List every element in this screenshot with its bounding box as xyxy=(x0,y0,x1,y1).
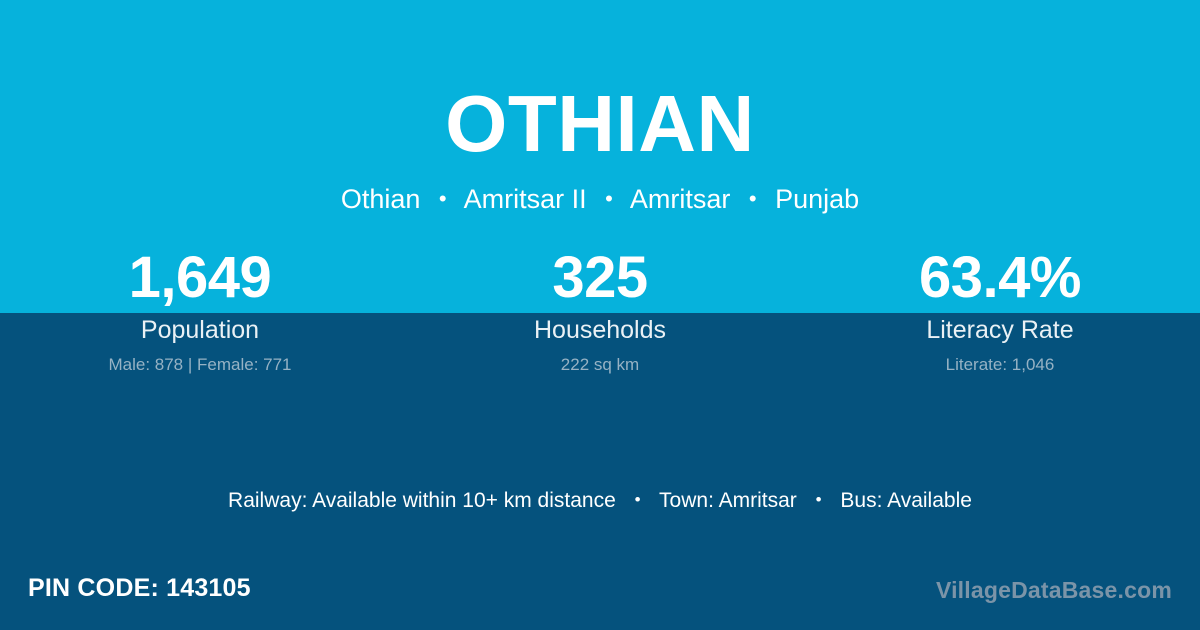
breadcrumb-item-district: Amritsar xyxy=(630,184,731,214)
breadcrumb-item-state: Punjab xyxy=(775,184,859,214)
facility-separator: • xyxy=(622,490,654,509)
stat-label: Households xyxy=(400,314,800,346)
stat-value: 325 xyxy=(400,243,800,313)
breadcrumb-item-village: Othian xyxy=(341,184,421,214)
site-brand: VillageDataBase.com xyxy=(936,575,1172,605)
stat-households: 325 Households 222 sq km xyxy=(400,243,800,376)
village-info-card: OTHIAN Othian • Amritsar II • Amritsar •… xyxy=(0,0,1200,630)
facility-bus: Bus: Available xyxy=(840,489,972,512)
stat-literacy-rate: 63.4% Literacy Rate Literate: 1,046 xyxy=(800,243,1200,376)
stat-population: 1,649 Population Male: 878 | Female: 771 xyxy=(0,243,400,376)
stat-sublabel: Literate: 1,046 xyxy=(800,354,1200,376)
pin-code: PIN CODE: 143105 xyxy=(28,571,251,605)
stat-label: Population xyxy=(0,314,400,346)
facility-railway: Railway: Available within 10+ km distanc… xyxy=(228,489,616,512)
stat-value: 1,649 xyxy=(0,243,400,313)
facilities-line: Railway: Available within 10+ km distanc… xyxy=(0,486,1200,515)
breadcrumb-separator: • xyxy=(738,186,768,211)
stat-value: 63.4% xyxy=(800,243,1200,313)
footer: PIN CODE: 143105 VillageDataBase.com xyxy=(0,558,1200,630)
stats-row: 1,649 Population Male: 878 | Female: 771… xyxy=(0,243,1200,376)
stat-label: Literacy Rate xyxy=(800,314,1200,346)
stat-sublabel: Male: 878 | Female: 771 xyxy=(0,354,400,376)
breadcrumb-separator: • xyxy=(594,186,624,211)
page-title: OTHIAN xyxy=(0,79,1200,169)
stat-sublabel: 222 sq km xyxy=(400,354,800,376)
breadcrumb: Othian • Amritsar II • Amritsar • Punjab xyxy=(0,180,1200,218)
facility-separator: • xyxy=(803,490,835,509)
breadcrumb-item-block: Amritsar II xyxy=(464,184,587,214)
facility-town: Town: Amritsar xyxy=(659,489,797,512)
breadcrumb-separator: • xyxy=(428,186,458,211)
